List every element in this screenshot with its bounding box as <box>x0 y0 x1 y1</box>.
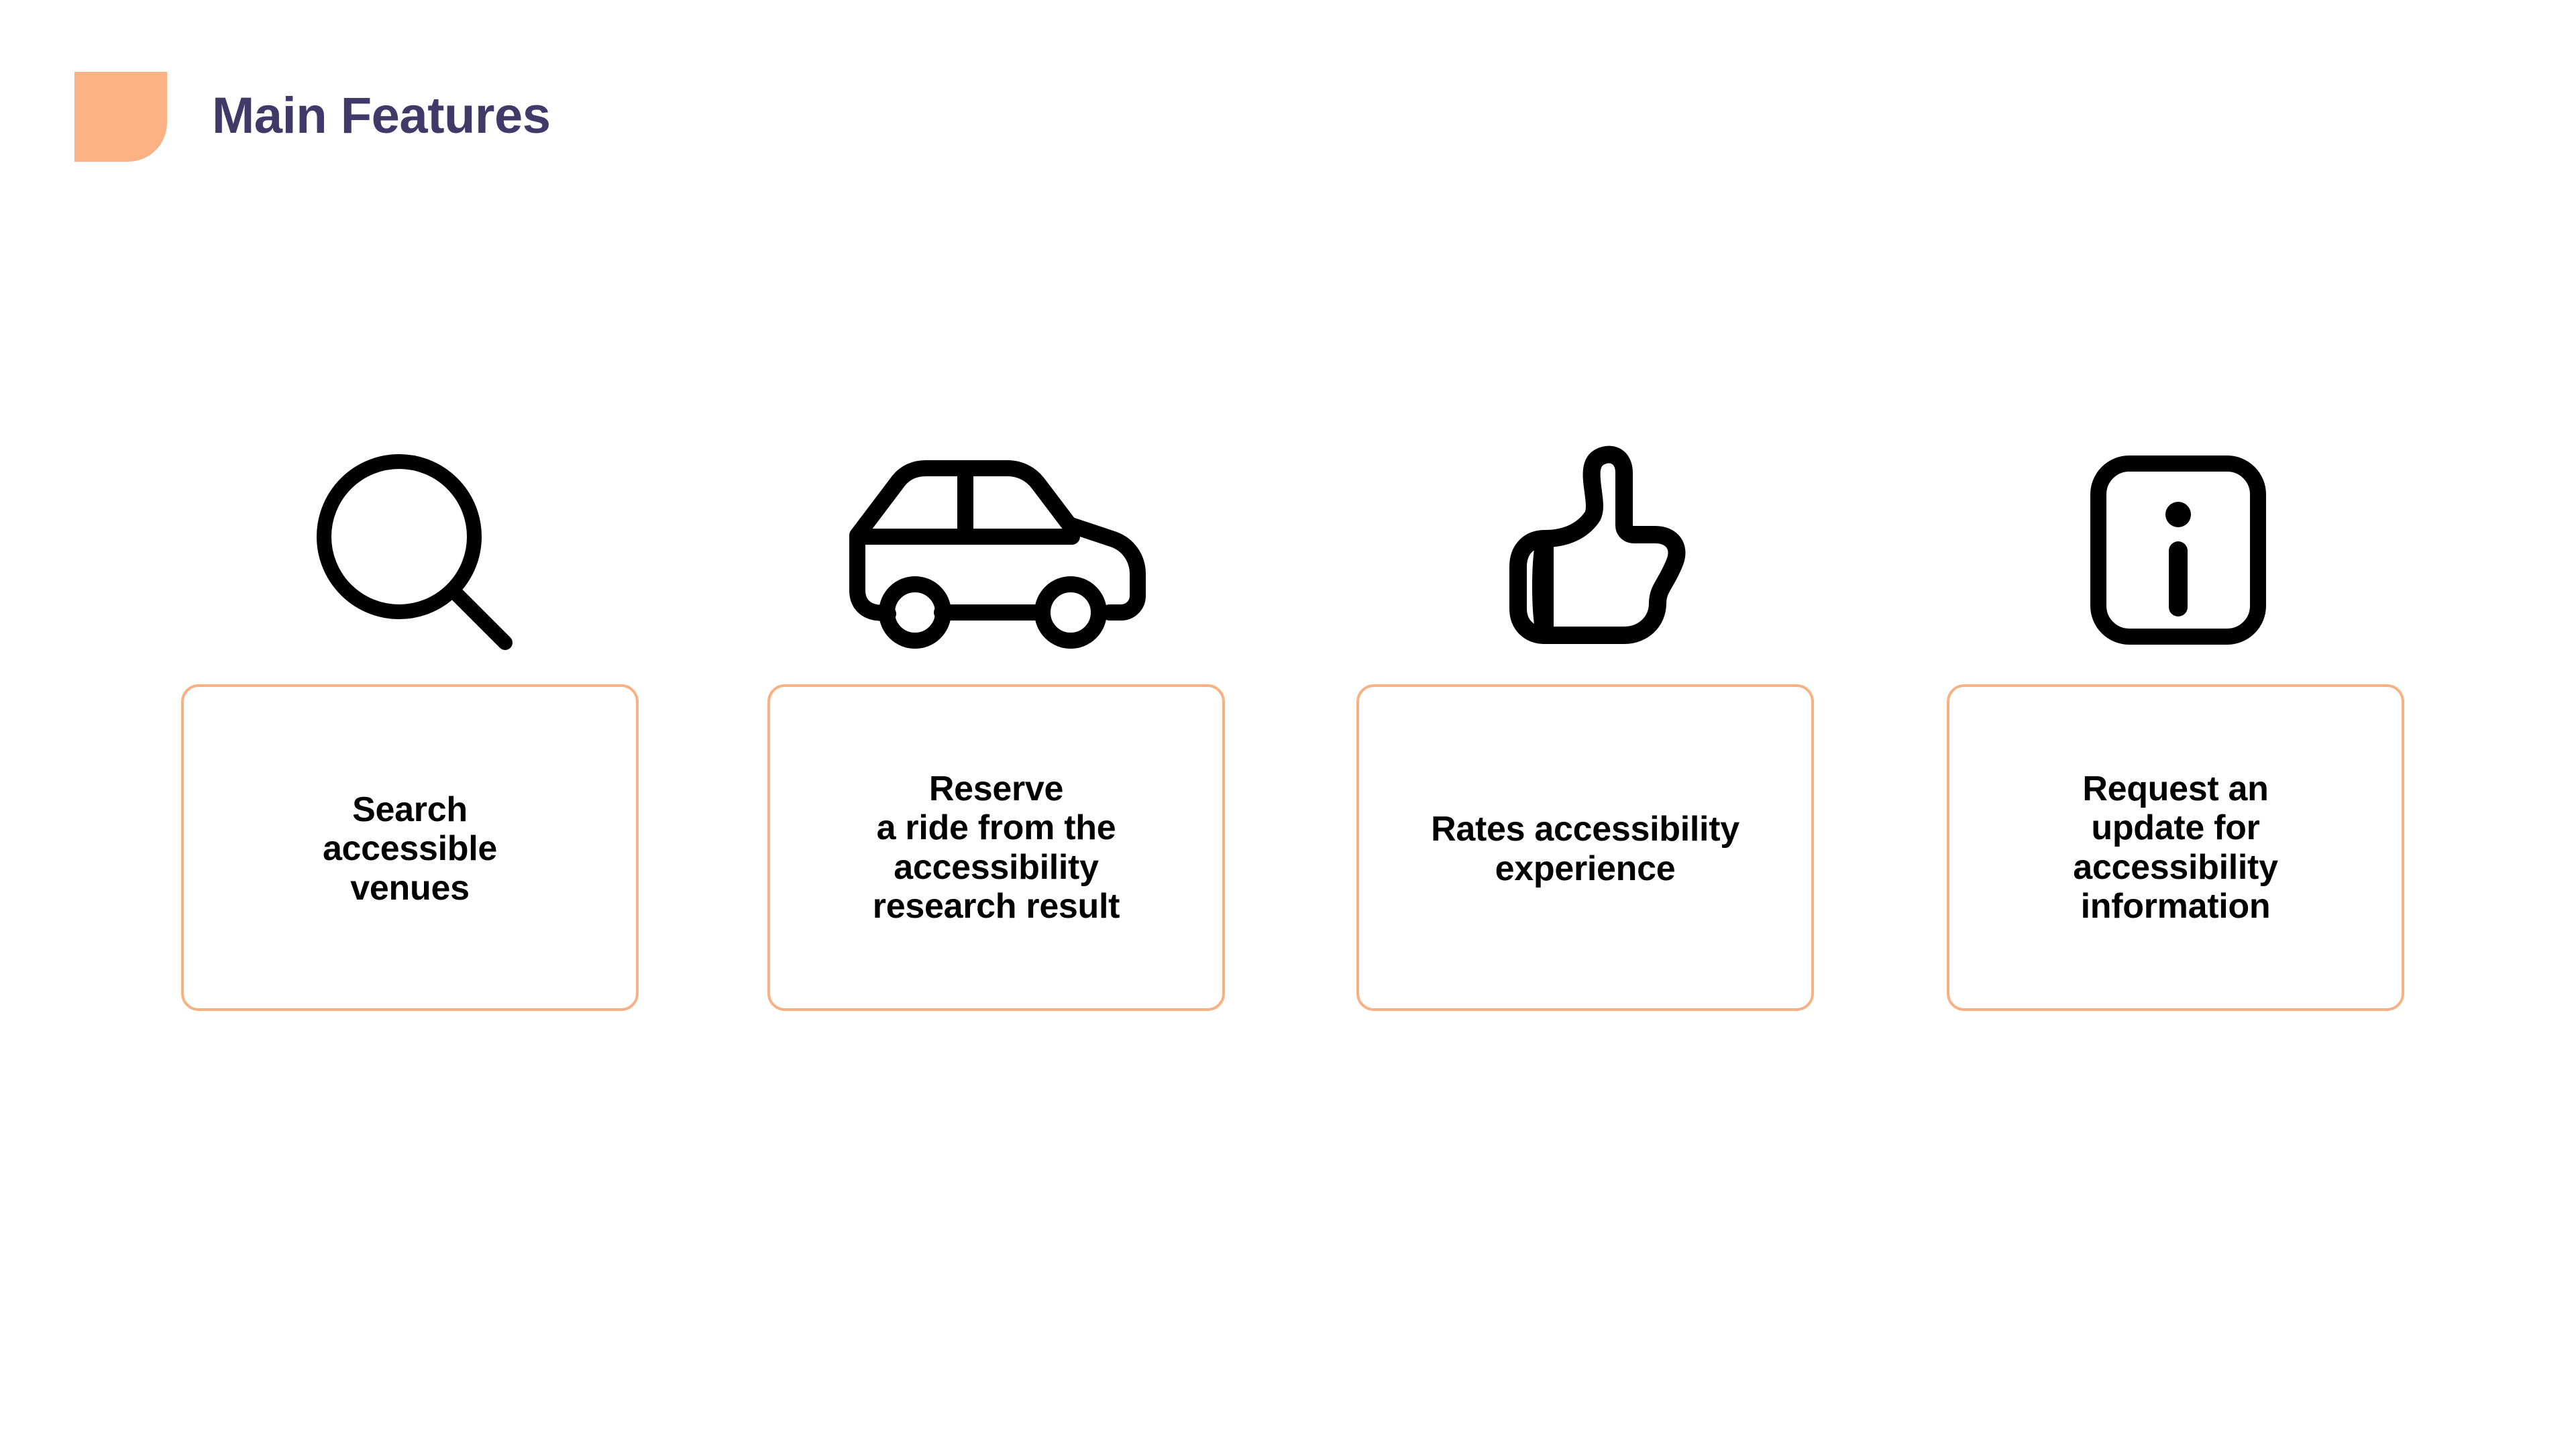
feature-label: Request an update for accessibility info… <box>2061 769 2290 926</box>
thumbs-up-icon <box>1356 416 1819 684</box>
feature-card-reserve-ride[interactable]: Reserve a ride from the accessibility re… <box>767 684 1225 1011</box>
magnifier-search-icon <box>181 416 644 684</box>
feature-card-rate-experience[interactable]: Rates accessibility experience <box>1356 684 1814 1011</box>
feature-item-search[interactable]: Search accessible venues <box>181 416 644 1011</box>
features-row: Search accessible venues R <box>0 0 2576 1449</box>
feature-item-request-update[interactable]: Request an update for accessibility info… <box>1947 416 2410 1011</box>
feature-label: Rates accessibility experience <box>1419 810 1752 888</box>
feature-item-rate-experience[interactable]: Rates accessibility experience <box>1356 416 1819 1011</box>
feature-card-request-update[interactable]: Request an update for accessibility info… <box>1947 684 2404 1011</box>
feature-label: Search accessible venues <box>311 790 509 908</box>
feature-label: Reserve a ride from the accessibility re… <box>861 769 1132 926</box>
feature-card-search[interactable]: Search accessible venues <box>181 684 639 1011</box>
info-square-icon <box>1947 416 2410 684</box>
car-icon <box>767 416 1230 684</box>
feature-item-reserve-ride[interactable]: Reserve a ride from the accessibility re… <box>767 416 1230 1011</box>
